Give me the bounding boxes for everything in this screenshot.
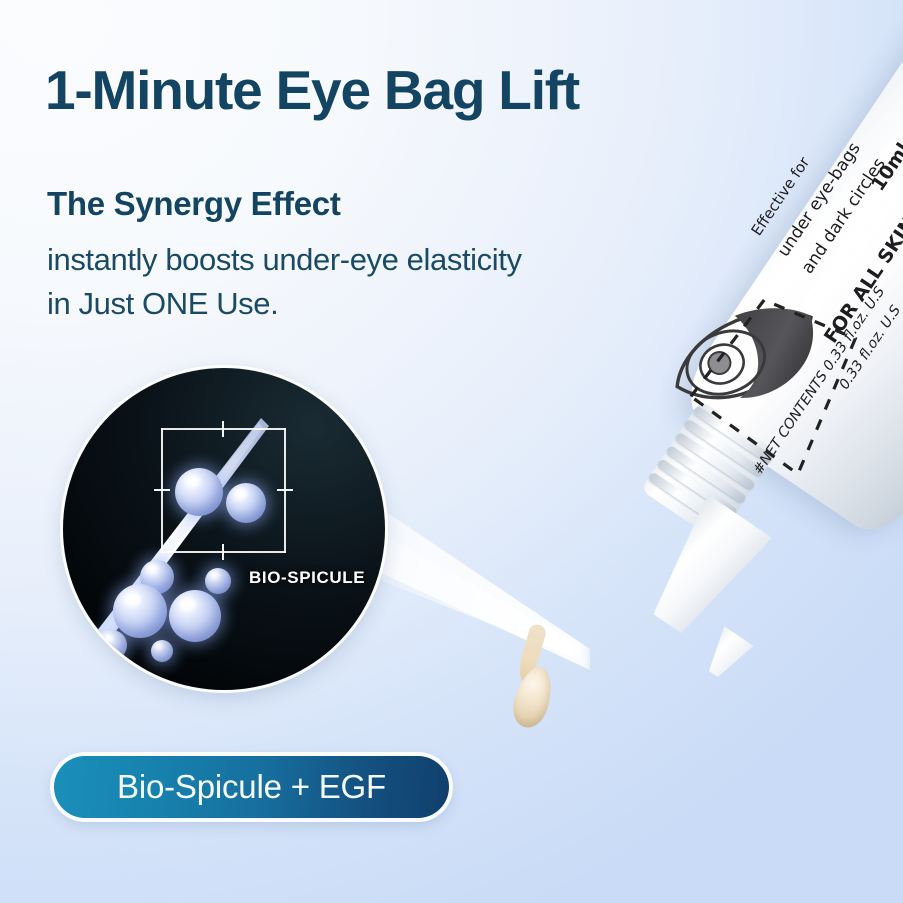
microsphere [205, 568, 231, 594]
tube-cone [632, 493, 774, 648]
tube-nozzle-tip [695, 624, 757, 687]
microscope-inset: BIO-SPICULE [63, 368, 385, 690]
ingredient-badge-label: Bio-Spicule + EGF [117, 768, 386, 806]
microscope-label: BIO-SPICULE [249, 568, 365, 588]
subheading-line-2: in Just ONE Use. [47, 282, 522, 326]
focus-frame [161, 428, 286, 553]
microsphere [169, 590, 221, 642]
microsphere [113, 584, 167, 638]
microsphere [97, 630, 127, 660]
serum-droplet [508, 663, 558, 732]
ingredient-badge[interactable]: Bio-Spicule + EGF [54, 756, 449, 818]
subheading-bold: The Synergy Effect [47, 185, 341, 223]
subheading-line-1: instantly boosts under-eye elasticity [47, 238, 522, 282]
microsphere [151, 640, 173, 662]
subheading-body: instantly boosts under-eye elasticity in… [47, 238, 522, 326]
promo-banner: 1-Minute Eye Bag Lift The Synergy Effect… [0, 0, 903, 903]
